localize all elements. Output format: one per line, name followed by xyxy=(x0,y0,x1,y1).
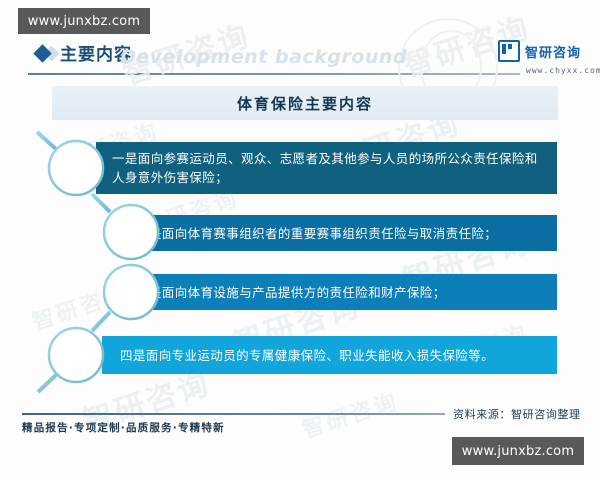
chain-link xyxy=(38,374,57,392)
content-bar-text: 三是面向体育设施与产品提供方的责任险和财产保险； xyxy=(128,283,456,302)
content-bar-4[interactable]: 四是面向专业运动员的专属健康保险、职业失能收入损失保险等。 xyxy=(102,336,557,374)
content-card-header: 体育保险主要内容 xyxy=(52,86,558,120)
brand-name: 智研咨询 xyxy=(525,42,581,61)
footer-source: 资料来源：智研咨询整理 xyxy=(453,406,581,422)
content-bar-text: 一是面向参赛运动员、观众、志愿者及其他参与人员的场所公众责任保险和人身意外伤害保… xyxy=(104,149,557,187)
watermark-text: 智研咨询 xyxy=(28,275,133,336)
footer-tagline: 精品报告·专项定制·品质服务·专精特新 xyxy=(22,420,225,435)
zhiyan-logo-icon xyxy=(498,40,520,62)
chain-link xyxy=(92,312,110,331)
content-bar-text: 二是面向体育赛事组织者的重要赛事组织责任险与取消责任险； xyxy=(128,224,507,243)
slide-canvas: 智研咨询 智研咨询 智研咨询 智研咨询 智研咨询 智研咨询 智研咨询 智研咨询 … xyxy=(0,0,600,480)
chain-link xyxy=(37,132,57,150)
watermark-url-top: www.junxbz.com xyxy=(18,8,150,34)
chain-circle xyxy=(49,328,103,382)
brand-logo: 智研咨询 xyxy=(498,40,581,62)
watermark-url-bottom: www.junxbz.com xyxy=(452,437,584,465)
header-ghost-title: Development background xyxy=(120,46,407,68)
content-bar-2[interactable]: 二是面向体育赛事组织者的重要赛事组织责任险与取消责任险； xyxy=(118,215,557,251)
content-bar-text: 四是面向专业运动员的专属健康保险、职业失能收入损失保险等。 xyxy=(112,346,504,365)
footer-divider xyxy=(22,413,445,415)
content-bar-3[interactable]: 三是面向体育设施与产品提供方的责任险和财产保险； xyxy=(118,274,557,310)
chain-circle xyxy=(49,141,103,195)
chain-link xyxy=(92,194,110,212)
content-card-title: 体育保险主要内容 xyxy=(237,93,373,114)
content-bar-1[interactable]: 一是面向参赛运动员、观众、志愿者及其他参与人员的场所公众责任保险和人身意外伤害保… xyxy=(96,142,557,194)
